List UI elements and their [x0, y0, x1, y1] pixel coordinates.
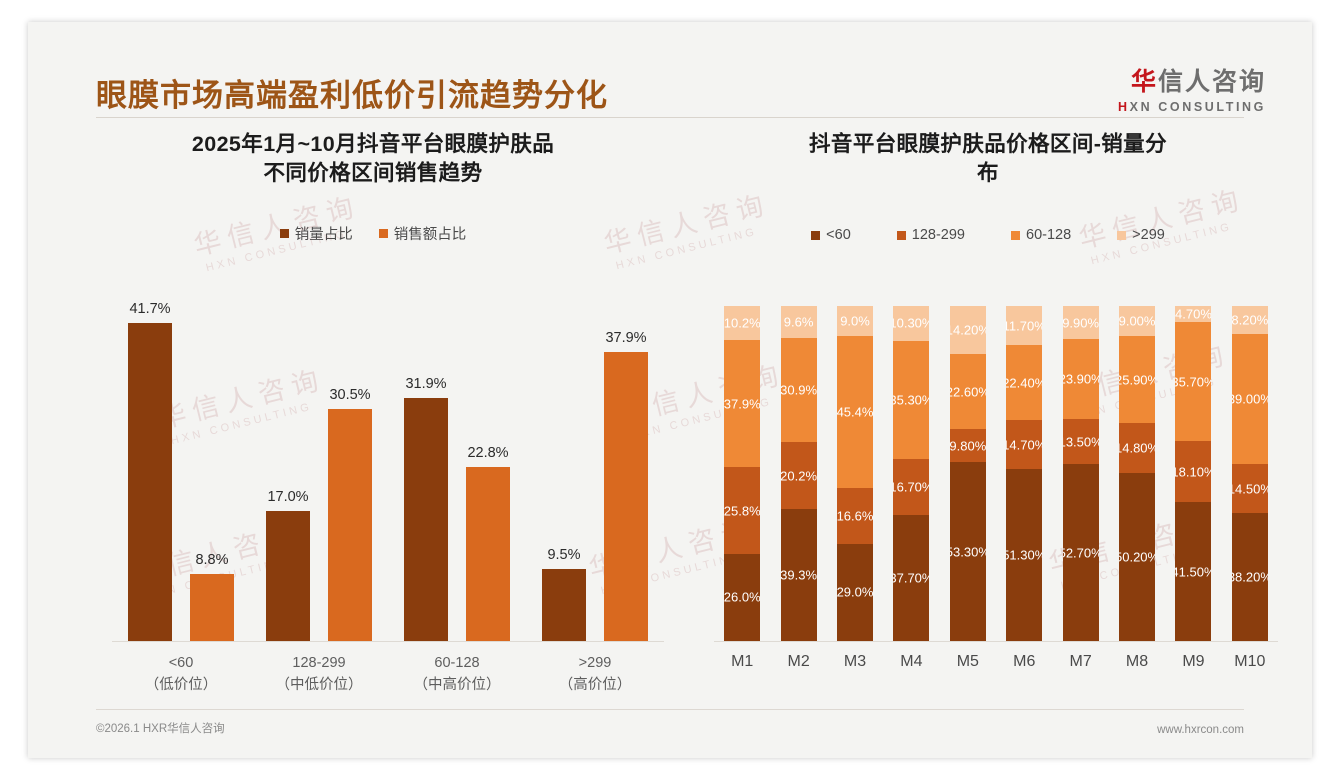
legend-swatch — [811, 231, 820, 240]
stack-segment-label: 41.50% — [1175, 564, 1211, 579]
legend-swatch — [1011, 231, 1020, 240]
legend-label: >299 — [1132, 227, 1165, 243]
bar-wrapper: 8.8% — [190, 298, 234, 641]
stack-segment[interactable]: 14.50% — [1232, 464, 1268, 513]
stack-cell: 4.70%35.70%18.10%41.50% — [1165, 306, 1221, 641]
bar-wrapper: 37.9% — [604, 298, 648, 641]
bar-wrapper: 31.9% — [404, 298, 448, 641]
footer-copyright: ©2026.1 HXR华信人咨询 — [96, 720, 225, 736]
bar[interactable]: 30.5% — [328, 409, 372, 641]
stack-segment-label: 4.70% — [1175, 306, 1211, 321]
stack-segment-label: 51.30% — [1006, 548, 1042, 563]
stack-segment[interactable]: 25.8% — [724, 467, 760, 554]
stack-segment[interactable]: 9.00% — [1119, 306, 1155, 336]
bar-value-label: 8.8% — [195, 552, 228, 568]
footer-website: www.hxrcon.com — [1157, 724, 1244, 736]
bar-group: 41.7%8.8% — [112, 298, 250, 641]
legend-item[interactable]: 60-128 — [1011, 227, 1071, 243]
legend-label: 销售额占比 — [394, 223, 467, 244]
stack-segment[interactable]: 10.30% — [893, 306, 929, 341]
right-chart-title-line1: 抖音平台眼膜护肤品价格区间-销量分 — [688, 130, 1288, 159]
logo-english-text: HXN CONSULTING — [1118, 100, 1266, 114]
stack-segment[interactable]: 9.80% — [950, 429, 986, 462]
company-logo: 华信人咨询 HXN CONSULTING — [1118, 62, 1266, 114]
stack-segment[interactable]: 22.60% — [950, 354, 986, 430]
stack-segment-label: 22.60% — [950, 384, 986, 399]
stack-segment[interactable]: 9.0% — [837, 306, 873, 336]
stack-segment-label: 23.90% — [1063, 372, 1099, 387]
stack-segment[interactable]: 51.30% — [1006, 469, 1042, 641]
legend-item[interactable]: 销量占比 — [280, 223, 353, 244]
stack-segment[interactable]: 45.4% — [837, 336, 873, 488]
stacked-bar[interactable]: 4.70%35.70%18.10%41.50% — [1175, 306, 1211, 641]
legend-item[interactable]: 128-299 — [897, 227, 965, 243]
stack-segment[interactable]: 37.70% — [893, 515, 929, 641]
page-title: 眼膜市场高端盈利低价引流趋势分化 — [96, 70, 608, 115]
stack-segment[interactable]: 29.0% — [837, 544, 873, 641]
legend-item[interactable]: 销售额占比 — [379, 223, 467, 244]
right-chart-axis-line — [714, 641, 1278, 642]
bar[interactable]: 8.8% — [190, 574, 234, 641]
stack-segment-label: 9.6% — [784, 315, 814, 330]
stack-segment-label: 9.0% — [840, 314, 870, 329]
stack-segment[interactable]: 38.20% — [1232, 513, 1268, 641]
left-chart-axis-line — [112, 641, 664, 642]
left-chart-title-line2: 不同价格区间销售趋势 — [68, 159, 678, 188]
right-chart-title-line2: 布 — [688, 159, 1288, 188]
stacked-bar[interactable]: 11.70%22.40%14.70%51.30% — [1006, 306, 1042, 641]
stack-segment[interactable]: 16.70% — [893, 459, 929, 515]
stack-segment[interactable]: 23.90% — [1063, 339, 1099, 419]
bar-value-label: 9.5% — [547, 547, 580, 563]
stack-cell: 14.20%22.60%9.80%53.30% — [940, 306, 996, 641]
month-label: M8 — [1109, 653, 1165, 702]
stack-segment-label: 10.30% — [893, 316, 929, 331]
stack-segment[interactable]: 14.70% — [1006, 420, 1042, 469]
legend-item[interactable]: >299 — [1117, 227, 1165, 243]
legend-item[interactable]: <60 — [811, 227, 851, 243]
stacked-bar[interactable]: 8.20%39.00%14.50%38.20% — [1232, 306, 1268, 641]
legend-swatch — [897, 231, 906, 240]
stack-segment[interactable]: 13.50% — [1063, 419, 1099, 464]
legend-label: 60-128 — [1026, 227, 1071, 243]
stack-segment-label: 39.3% — [781, 568, 817, 583]
bar[interactable]: 41.7% — [128, 323, 172, 641]
logo-chinese-rest: 信人咨询 — [1158, 68, 1266, 96]
month-label: M5 — [940, 653, 996, 702]
bar[interactable]: 22.8% — [466, 467, 510, 641]
stack-segment-label: 35.70% — [1175, 374, 1211, 389]
stack-segment-label: 22.40% — [1006, 375, 1042, 390]
bar-wrapper: 41.7% — [128, 298, 172, 641]
bar-value-label: 22.8% — [467, 445, 508, 461]
stack-segment-label: 45.4% — [837, 405, 873, 420]
logo-english-accent-char: H — [1118, 100, 1130, 114]
stack-segment-label: 35.30% — [893, 392, 929, 407]
stack-segment[interactable]: 20.2% — [781, 442, 817, 510]
stacked-bar[interactable]: 9.90%23.90%13.50%52.70% — [1063, 306, 1099, 641]
left-chart-plot: 41.7%8.8%17.0%30.5%31.9%22.8%9.5%37.9% — [112, 298, 664, 642]
stack-cell: 10.2%37.9%25.8%26.0% — [714, 306, 770, 641]
stack-segment-label: 9.80% — [950, 438, 986, 453]
stack-segment-label: 50.20% — [1119, 549, 1155, 564]
stack-segment[interactable]: 39.00% — [1232, 334, 1268, 465]
slide: 眼膜市场高端盈利低价引流趋势分化 华信人咨询 HXN CONSULTING 华信… — [28, 22, 1312, 758]
bar-wrapper: 30.5% — [328, 298, 372, 641]
stack-segment-label: 39.00% — [1232, 391, 1268, 406]
stack-segment-label: 26.0% — [724, 590, 760, 605]
stack-segment[interactable]: 50.20% — [1119, 473, 1155, 641]
legend-swatch — [280, 229, 289, 238]
stack-segment[interactable]: 9.90% — [1063, 306, 1099, 339]
stack-segment[interactable]: 8.20% — [1232, 306, 1268, 334]
stack-segment-label: 9.00% — [1119, 314, 1155, 329]
stack-segment-label: 16.6% — [837, 509, 873, 524]
bar[interactable]: 37.9% — [604, 352, 648, 641]
right-chart-panel: 抖音平台眼膜护肤品价格区间-销量分 布 <60128-29960-128>299… — [688, 130, 1288, 702]
legend-label: 128-299 — [912, 227, 965, 243]
bar-value-label: 41.7% — [129, 301, 170, 317]
stack-segment-label: 20.2% — [781, 468, 817, 483]
bar-group: 17.0%30.5% — [250, 298, 388, 641]
month-label: M2 — [770, 653, 826, 702]
legend-label: <60 — [826, 227, 851, 243]
stack-segment[interactable]: 52.70% — [1063, 464, 1099, 641]
category-label: 60-128（中高价位） — [388, 652, 526, 702]
stack-segment-label: 38.20% — [1232, 569, 1268, 584]
stack-segment-label: 11.70% — [1006, 318, 1042, 333]
stack-cell: 9.0%45.4%16.6%29.0% — [827, 306, 883, 641]
stack-segment-label: 30.9% — [781, 382, 817, 397]
slide-header: 眼膜市场高端盈利低价引流趋势分化 华信人咨询 HXN CONSULTING — [28, 22, 1312, 118]
stacked-bar[interactable]: 9.00%25.90%14.80%50.20% — [1119, 306, 1155, 641]
right-chart-month-axis: M1M2M3M4M5M6M7M8M9M10 — [714, 644, 1278, 702]
stack-cell: 9.00%25.90%14.80%50.20% — [1109, 306, 1165, 641]
logo-chinese-text: 华信人咨询 — [1118, 62, 1266, 98]
stack-segment-label: 16.70% — [893, 479, 929, 494]
month-label: M10 — [1222, 653, 1278, 702]
left-chart-title: 2025年1月~10月抖音平台眼膜护肤品 不同价格区间销售趋势 — [68, 130, 678, 187]
legend-swatch — [379, 229, 388, 238]
stack-cell: 8.20%39.00%14.50%38.20% — [1222, 306, 1278, 641]
stack-segment[interactable]: 35.70% — [1175, 322, 1211, 442]
logo-english-rest: XN CONSULTING — [1130, 100, 1266, 114]
bar-value-label: 30.5% — [329, 387, 370, 403]
stack-segment[interactable]: 26.0% — [724, 554, 760, 641]
stack-segment[interactable]: 14.80% — [1119, 423, 1155, 473]
stack-segment-label: 18.10% — [1175, 464, 1211, 479]
stack-segment-label: 25.90% — [1119, 372, 1155, 387]
right-chart-plot: 10.2%37.9%25.8%26.0%9.6%30.9%20.2%39.3%9… — [714, 306, 1278, 642]
bar-group: 31.9%22.8% — [388, 298, 526, 641]
category-label: <60（低价位） — [112, 652, 250, 702]
bar-wrapper: 17.0% — [266, 298, 310, 641]
stack-segment-label: 37.70% — [893, 570, 929, 585]
stack-cell: 9.6%30.9%20.2%39.3% — [770, 306, 826, 641]
bar-value-label: 31.9% — [405, 376, 446, 392]
left-chart-legend: 销量占比销售额占比 — [68, 223, 678, 244]
stack-segment-label: 37.9% — [724, 396, 760, 411]
right-chart-title: 抖音平台眼膜护肤品价格区间-销量分 布 — [688, 130, 1288, 187]
month-label: M4 — [883, 653, 939, 702]
stack-segment-label: 14.20% — [950, 322, 986, 337]
stack-segment-label: 14.50% — [1232, 481, 1268, 496]
stack-segment[interactable]: 10.2% — [724, 306, 760, 340]
month-label: M9 — [1165, 653, 1221, 702]
bar[interactable]: 31.9% — [404, 398, 448, 641]
bar-value-label: 17.0% — [267, 489, 308, 505]
left-chart-category-axis: <60（低价位）128-299（中低价位）60-128（中高价位）>299（高价… — [112, 644, 664, 702]
stack-segment-label: 9.90% — [1063, 315, 1099, 330]
category-label: 128-299（中低价位） — [250, 652, 388, 702]
stack-segment[interactable]: 11.70% — [1006, 306, 1042, 345]
right-chart-legend: <60128-29960-128>299 — [688, 227, 1288, 243]
stack-segment[interactable]: 39.3% — [781, 509, 817, 641]
month-label: M1 — [714, 653, 770, 702]
stack-segment[interactable]: 53.30% — [950, 462, 986, 641]
header-divider — [96, 117, 1244, 118]
stack-cell: 10.30%35.30%16.70%37.70% — [883, 306, 939, 641]
stack-segment-label: 8.20% — [1232, 312, 1268, 327]
stack-segment[interactable]: 9.6% — [781, 306, 817, 338]
bar[interactable]: 9.5% — [542, 569, 586, 641]
stack-segment[interactable]: 14.20% — [950, 306, 986, 354]
stack-cell: 9.90%23.90%13.50%52.70% — [1052, 306, 1108, 641]
bar-group: 9.5%37.9% — [526, 298, 664, 641]
left-chart-panel: 2025年1月~10月抖音平台眼膜护肤品 不同价格区间销售趋势 销量占比销售额占… — [68, 130, 678, 702]
bar-wrapper: 22.8% — [466, 298, 510, 641]
stack-segment[interactable]: 41.50% — [1175, 502, 1211, 641]
stack-segment[interactable]: 25.90% — [1119, 336, 1155, 423]
stack-segment-label: 52.70% — [1063, 545, 1099, 560]
stacked-bar[interactable]: 14.20%22.60%9.80%53.30% — [950, 306, 986, 641]
stacked-bar[interactable]: 9.6%30.9%20.2%39.3% — [781, 306, 817, 641]
stack-segment[interactable]: 22.40% — [1006, 345, 1042, 420]
stacked-bar[interactable]: 9.0%45.4%16.6%29.0% — [837, 306, 873, 641]
stack-segment[interactable]: 18.10% — [1175, 441, 1211, 502]
stacked-bar[interactable]: 10.2%37.9%25.8%26.0% — [724, 306, 760, 641]
stack-segment[interactable]: 4.70% — [1175, 306, 1211, 322]
logo-chinese-accent-char: 华 — [1131, 68, 1158, 96]
stack-segment[interactable]: 37.9% — [724, 340, 760, 467]
stack-segment[interactable]: 16.6% — [837, 488, 873, 544]
footer-divider — [96, 709, 1244, 710]
month-label: M6 — [996, 653, 1052, 702]
stack-segment-label: 13.50% — [1063, 434, 1099, 449]
stack-cell: 11.70%22.40%14.70%51.30% — [996, 306, 1052, 641]
legend-swatch — [1117, 231, 1126, 240]
bar-value-label: 37.9% — [605, 330, 646, 346]
legend-label: 销量占比 — [295, 223, 353, 244]
stack-segment-label: 14.70% — [1006, 437, 1042, 452]
category-label: >299（高价位） — [526, 652, 664, 702]
month-label: M3 — [827, 653, 883, 702]
stack-segment[interactable]: 35.30% — [893, 341, 929, 459]
left-chart-title-line1: 2025年1月~10月抖音平台眼膜护肤品 — [68, 130, 678, 159]
bar-wrapper: 9.5% — [542, 298, 586, 641]
stack-segment-label: 14.80% — [1119, 440, 1155, 455]
bar[interactable]: 17.0% — [266, 511, 310, 641]
stack-segment-label: 29.0% — [837, 585, 873, 600]
month-label: M7 — [1052, 653, 1108, 702]
stack-segment-label: 25.8% — [724, 503, 760, 518]
stack-segment-label: 53.30% — [950, 544, 986, 559]
stacked-bar[interactable]: 10.30%35.30%16.70%37.70% — [893, 306, 929, 641]
stack-segment-label: 10.2% — [724, 316, 760, 331]
stack-segment[interactable]: 30.9% — [781, 338, 817, 442]
